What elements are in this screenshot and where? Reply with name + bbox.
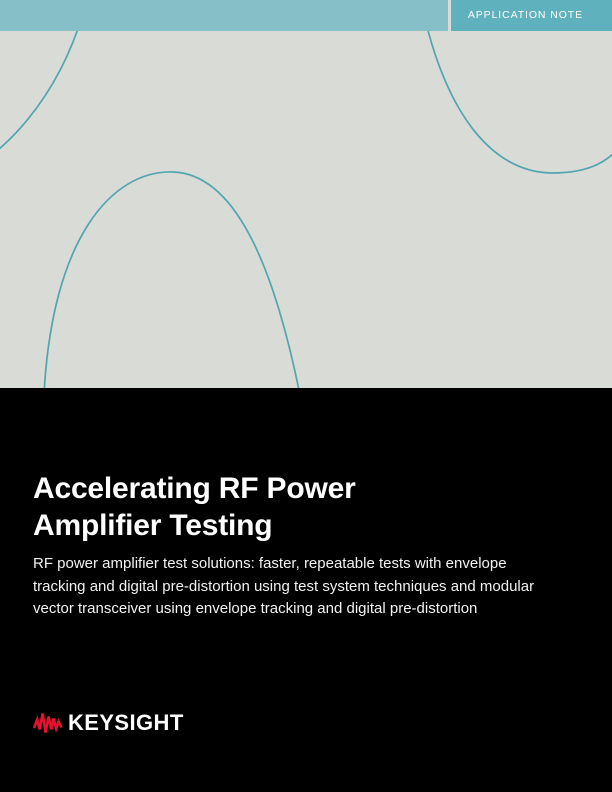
keysight-wordmark: KEYSIGHT [68, 712, 184, 734]
page-title-line-1: Accelerating RF Power [33, 472, 356, 505]
title-block: Accelerating RF Power Amplifier Testing … [33, 470, 573, 621]
sine-wave-artwork [0, 0, 612, 388]
keysight-waveform-icon [33, 712, 63, 734]
header-band-left [0, 0, 448, 31]
page-title: Accelerating RF Power Amplifier Testing [33, 470, 573, 544]
document-cover-page: APPLICATION NOTE Accelerating RF Power A… [0, 0, 612, 792]
page-title-line-2: Amplifier Testing [33, 509, 272, 542]
keysight-logo: KEYSIGHT [33, 712, 184, 734]
curve-center-peak-arc [44, 172, 300, 388]
header-band-divider [448, 0, 451, 31]
page-subtitle: RF power amplifier test solutions: faste… [33, 553, 553, 621]
document-kind-label: APPLICATION NOTE [468, 0, 583, 31]
